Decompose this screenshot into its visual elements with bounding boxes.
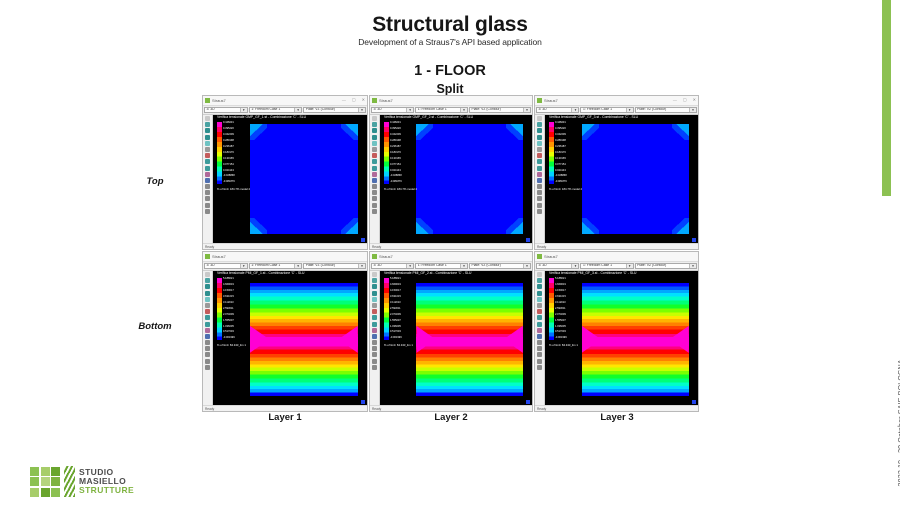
select-tool-icon[interactable] xyxy=(372,272,377,277)
axis-triad-icon xyxy=(526,238,530,242)
chevron-down-icon[interactable]: ▾ xyxy=(460,264,467,268)
legend-footer: % of limit: 84.343_lim 1 xyxy=(384,343,413,347)
status-bar: Ready xyxy=(535,243,698,250)
legend-value: 0.395220 xyxy=(223,128,235,131)
window-title: Straus7 xyxy=(379,98,393,103)
vector-tool-icon[interactable] xyxy=(372,178,377,183)
app-icon xyxy=(205,254,210,259)
rotate-tool-icon[interactable] xyxy=(372,135,377,140)
select-tool-icon[interactable] xyxy=(537,116,542,121)
legend-value: -0.081879 xyxy=(390,181,402,184)
node-tool-icon[interactable] xyxy=(372,147,377,152)
plate-tool-icon[interactable] xyxy=(537,315,542,320)
legend-value: 1.036005 xyxy=(555,326,567,329)
window-titlebar: Straus7 xyxy=(370,252,532,262)
contour-tool-icon[interactable] xyxy=(537,172,542,177)
window-title: Straus7 xyxy=(212,98,226,103)
legend-value: 4.669019 xyxy=(555,284,567,287)
app-window-top-layer3[interactable]: Straus7 — ▢ ✕ 3: 3D ▾ 1: Freedom Case 1 … xyxy=(534,95,699,250)
plate-tool-icon[interactable] xyxy=(205,315,210,320)
window-body: Verifica tensionale PMI_GF_3.st - Combin… xyxy=(535,271,698,405)
vector-tool-icon[interactable] xyxy=(205,178,210,183)
node-tool-icon[interactable] xyxy=(372,303,377,308)
logo-hatch-mark xyxy=(64,466,75,497)
legend-value: 3.112013 xyxy=(223,302,235,305)
corner-gradient xyxy=(506,124,523,141)
studio-masiello-logo: STUDIO MASIELLO STRUTTURE xyxy=(30,466,134,497)
side-toolbar[interactable] xyxy=(203,115,213,243)
contour-plot xyxy=(416,124,522,234)
rotate-tool-icon[interactable] xyxy=(372,291,377,296)
result-select[interactable]: Plate: VZ (Contour) ▾ xyxy=(303,263,366,269)
legend-value: 0.183176 xyxy=(223,152,235,155)
entity-select-value: 3: 3D xyxy=(207,108,215,111)
axis-tool-icon[interactable] xyxy=(372,203,377,208)
screenshot-grid: Straus7 — ▢ ✕ 3: 3D ▾ 1: Freedom Case 1 … xyxy=(202,95,699,412)
result-select-value: Plate: VZ (Contour) xyxy=(471,264,500,267)
minimize-icon[interactable]: — xyxy=(342,98,346,102)
chevron-down-icon[interactable]: ▾ xyxy=(240,264,247,268)
vector-tool-icon[interactable] xyxy=(537,178,542,183)
settings-tool-icon[interactable] xyxy=(372,209,377,214)
legend-value: -0.028868 xyxy=(555,175,567,178)
maximize-icon[interactable]: ▢ xyxy=(352,98,356,102)
measure-tool-icon[interactable] xyxy=(372,297,377,302)
model-canvas[interactable]: Verifica tensionale PMI_GF_2.st - Combin… xyxy=(380,271,532,405)
node-tool-icon[interactable] xyxy=(205,303,210,308)
legend-value: 3.631015 xyxy=(555,296,567,299)
legend-value: 0.183176 xyxy=(555,152,567,155)
legend-value: 0.342209 xyxy=(390,134,402,137)
minimize-icon[interactable]: — xyxy=(673,98,677,102)
selector-strip: 3: 3D ▾ 1: Freedom Case 1 ▾ Plate: VZ (C… xyxy=(370,106,532,115)
print-tool-icon[interactable] xyxy=(372,190,377,195)
legend-value: 1.555007 xyxy=(555,320,567,323)
window-body: Verifica tensionale GMP_GF_3.st - Combin… xyxy=(535,115,698,243)
window-titlebar: Straus7 xyxy=(203,252,367,262)
legend-value: 0.517003 xyxy=(390,331,402,334)
measure-tool-icon[interactable] xyxy=(537,297,542,302)
legend-value: 3.112013 xyxy=(390,302,402,305)
legend-value: 2.593011 xyxy=(390,308,402,311)
pan-tool-icon[interactable] xyxy=(372,122,377,127)
window-titlebar: Straus7 xyxy=(370,96,532,106)
print-tool-icon[interactable] xyxy=(537,190,542,195)
contour-plot xyxy=(416,283,522,396)
status-text: Ready xyxy=(372,246,381,249)
chevron-down-icon[interactable]: ▾ xyxy=(626,108,633,112)
result-select[interactable]: Plate: VZ (Contour) ▾ xyxy=(635,107,697,113)
legend-value: -0.081879 xyxy=(223,181,235,184)
measure-tool-icon[interactable] xyxy=(372,141,377,146)
case-select[interactable]: 1: Freedom Case 1 ▾ xyxy=(580,107,633,113)
node-tool-icon[interactable] xyxy=(537,147,542,152)
brick-tool-icon[interactable] xyxy=(205,166,210,171)
pan-tool-icon[interactable] xyxy=(537,278,542,283)
vector-tool-icon[interactable] xyxy=(205,334,210,339)
corner-gradient xyxy=(582,124,599,141)
legend-value: 5.188021 xyxy=(223,278,235,281)
legend-footer: % of limit: 84.343_lim 1 xyxy=(549,343,578,347)
legend-value: 0.024143 xyxy=(390,170,402,173)
beam-tool-icon[interactable] xyxy=(205,309,210,314)
plate-tool-icon[interactable] xyxy=(537,159,542,164)
legend-colorbar xyxy=(217,122,222,184)
app-window-top-layer1[interactable]: Straus7 — ▢ ✕ 3: 3D ▾ 1: Freedom Case 1 … xyxy=(202,95,368,250)
chevron-down-icon[interactable]: ▾ xyxy=(626,264,633,268)
scale-tool-icon[interactable] xyxy=(372,184,377,189)
contour-plot xyxy=(582,283,689,396)
case-select[interactable]: 1: Freedom Case 1 ▾ xyxy=(415,263,468,269)
chevron-down-icon[interactable]: ▾ xyxy=(294,108,301,112)
window-controls[interactable]: — ▢ ✕ xyxy=(673,98,696,102)
rotate-tool-icon[interactable] xyxy=(205,291,210,296)
page-title: Structural glass xyxy=(0,14,900,36)
side-toolbar[interactable] xyxy=(370,115,380,243)
contour-tool-icon[interactable] xyxy=(205,172,210,177)
logo-tile xyxy=(30,488,39,497)
legend-value: 4.150017 xyxy=(223,290,235,293)
brick-tool-icon[interactable] xyxy=(372,322,377,327)
legend-value: 0.289198 xyxy=(390,140,402,143)
section-title: 1 - FLOOR xyxy=(0,63,900,80)
case-select[interactable]: 1: Freedom Case 1 ▾ xyxy=(580,263,633,269)
brick-tool-icon[interactable] xyxy=(537,322,542,327)
brick-tool-icon[interactable] xyxy=(372,166,377,171)
app-window-top-layer2[interactable]: Straus7 3: 3D ▾ 1: Freedom Case 1 ▾ Plat… xyxy=(369,95,533,250)
scale-tool-icon[interactable] xyxy=(537,184,542,189)
select-tool-icon[interactable] xyxy=(537,272,542,277)
select-tool-icon[interactable] xyxy=(372,116,377,121)
result-select[interactable]: Plate: VZ (Contour) ▾ xyxy=(469,263,531,269)
contour-legend: 5.188021 4.669019 4.150017 3.631015 3.11… xyxy=(549,278,567,340)
legend-value: 0.236187 xyxy=(555,146,567,149)
app-icon xyxy=(372,98,377,103)
legend-value: 1.036005 xyxy=(390,326,402,329)
beam-tool-icon[interactable] xyxy=(205,153,210,158)
rotate-tool-icon[interactable] xyxy=(537,291,542,296)
print-tool-icon[interactable] xyxy=(205,346,210,351)
print-tool-icon[interactable] xyxy=(372,346,377,351)
legend-value: 3.112013 xyxy=(555,302,567,305)
brick-tool-icon[interactable] xyxy=(205,322,210,327)
slide-title-block: Structural glass Development of a Straus… xyxy=(0,14,900,97)
selector-strip: 3: 3D ▾ 1: Freedom Case 1 ▾ Plate: VZ (C… xyxy=(203,262,367,271)
case-select-value: 1: Freedom Case 1 xyxy=(251,264,280,267)
legend-value: 4.150017 xyxy=(555,290,567,293)
app-window-bottom-layer3[interactable]: Straus7 3: 3D ▾ 1: Freedom Case 1 ▾ Plat… xyxy=(534,251,699,412)
status-text: Ready xyxy=(537,246,546,249)
legend-colorbar xyxy=(384,278,389,340)
chevron-down-icon[interactable]: ▾ xyxy=(240,108,247,112)
grid-tool-icon[interactable] xyxy=(372,196,377,201)
window-body: Verifica tensionale GMP_GF_2.st - Combin… xyxy=(370,115,532,243)
logo-tile xyxy=(30,477,39,486)
chevron-down-icon[interactable]: ▾ xyxy=(523,108,530,112)
side-toolbar[interactable] xyxy=(535,271,545,405)
pan-tool-icon[interactable] xyxy=(205,278,210,283)
measure-tool-icon[interactable] xyxy=(205,141,210,146)
app-window-bottom-layer1[interactable]: Straus7 3: 3D ▾ 1: Freedom Case 1 ▾ Plat… xyxy=(202,251,368,412)
legend-value: 0.077154 xyxy=(223,164,235,167)
legend-values: 5.188021 4.669019 4.150017 3.631015 3.11… xyxy=(223,278,235,340)
legend-value: 2.074009 xyxy=(555,314,567,317)
axis-tool-icon[interactable] xyxy=(205,359,210,364)
beam-tool-icon[interactable] xyxy=(537,309,542,314)
legend-values: 0.448231 0.395220 0.342209 0.289198 0.23… xyxy=(223,122,235,184)
legend-value: 1.555007 xyxy=(390,320,402,323)
maximize-icon[interactable]: ▢ xyxy=(683,98,687,102)
chevron-down-icon[interactable]: ▾ xyxy=(689,264,696,268)
entity-select[interactable]: 3: 3D ▾ xyxy=(371,107,414,113)
rotate-tool-icon[interactable] xyxy=(537,135,542,140)
model-canvas[interactable]: Verifica tensionale GMP_GF_2.st - Combin… xyxy=(380,115,532,243)
side-toolbar[interactable] xyxy=(203,271,213,405)
legend-value: 0.289198 xyxy=(555,140,567,143)
grid-tool-icon[interactable] xyxy=(372,352,377,357)
case-select[interactable]: 1: Freedom Case 1 ▾ xyxy=(249,263,302,269)
row-label-bottom: Bottom xyxy=(125,321,185,332)
corner-gradient xyxy=(506,218,523,235)
legend-values: 0.448231 0.395220 0.342209 0.289198 0.23… xyxy=(555,122,567,184)
contour-tool-icon[interactable] xyxy=(372,172,377,177)
legend-value: 5.188021 xyxy=(390,278,402,281)
status-bar: Ready xyxy=(370,243,532,250)
canvas-header-text: Verifica tensionale PMI_GF_3.st - Combin… xyxy=(549,272,636,275)
model-canvas[interactable]: Verifica tensionale GMP_GF_1.st - Combin… xyxy=(213,115,367,243)
model-canvas[interactable]: Verifica tensionale GMP_GF_3.st - Combin… xyxy=(545,115,698,243)
settings-tool-icon[interactable] xyxy=(537,365,542,370)
corner-gradient xyxy=(582,218,599,235)
corner-gradient xyxy=(672,124,689,141)
window-controls[interactable]: — ▢ ✕ xyxy=(342,98,365,102)
legend-value: 0.024143 xyxy=(223,170,235,173)
pan-tool-icon[interactable] xyxy=(537,122,542,127)
node-tool-icon[interactable] xyxy=(537,303,542,308)
entity-select[interactable]: 3: 3D ▾ xyxy=(536,107,579,113)
contour-plot xyxy=(250,283,358,396)
brick-tool-icon[interactable] xyxy=(537,166,542,171)
contour-legend: 0.448231 0.395220 0.342209 0.289198 0.23… xyxy=(384,122,402,184)
legend-value: 2.074009 xyxy=(223,314,235,317)
legend-colorbar xyxy=(549,122,554,184)
legend-value: 0.517003 xyxy=(223,331,235,334)
window-titlebar: Straus7 — ▢ ✕ xyxy=(203,96,367,106)
beam-tool-icon[interactable] xyxy=(537,153,542,158)
chevron-down-icon[interactable]: ▾ xyxy=(358,108,365,112)
logo-tile xyxy=(30,467,39,476)
entity-select[interactable]: 3: 3D ▾ xyxy=(204,263,248,269)
vector-tool-icon[interactable] xyxy=(372,334,377,339)
status-text: Ready xyxy=(372,408,381,411)
logo-tile xyxy=(41,477,50,486)
side-toolbar[interactable] xyxy=(535,115,545,243)
result-select[interactable]: Plate: VZ (Contour) ▾ xyxy=(303,107,366,113)
contour-tool-icon[interactable] xyxy=(537,328,542,333)
grid-tool-icon[interactable] xyxy=(537,196,542,201)
rotate-tool-icon[interactable] xyxy=(205,135,210,140)
legend-value: 1.036005 xyxy=(223,326,235,329)
zoom-tool-icon[interactable] xyxy=(372,128,377,133)
canvas-header-text: Verifica tensionale GMP_GF_2.st - Combin… xyxy=(384,116,473,119)
model-canvas[interactable]: Verifica tensionale PMI_GF_1.st - Combin… xyxy=(213,271,367,405)
legend-value: 0.448231 xyxy=(223,122,235,125)
measure-tool-icon[interactable] xyxy=(537,141,542,146)
entity-select-value: 3: 3D xyxy=(539,264,547,267)
grid-tool-icon[interactable] xyxy=(205,196,210,201)
legend-value: 0.024143 xyxy=(555,170,567,173)
grid-tool-icon[interactable] xyxy=(205,352,210,357)
selector-strip: 3: 3D ▾ 1: Freedom Case 1 ▾ Plate: VZ (C… xyxy=(535,106,698,115)
legend-value: 2.074009 xyxy=(390,314,402,317)
selector-strip: 3: 3D ▾ 1: Freedom Case 1 ▾ Plate: VZ (C… xyxy=(535,262,698,271)
axis-triad-icon xyxy=(526,400,530,404)
chevron-down-icon[interactable]: ▾ xyxy=(523,264,530,268)
node-tool-icon[interactable] xyxy=(205,147,210,152)
logo-tile xyxy=(51,477,60,486)
legend-value: 1.555007 xyxy=(223,320,235,323)
canvas-header-text: Verifica tensionale GMP_GF_3.st - Combin… xyxy=(549,116,638,119)
legend-values: 5.188021 4.669019 4.150017 3.631015 3.11… xyxy=(390,278,402,340)
settings-tool-icon[interactable] xyxy=(205,365,210,370)
chevron-down-icon[interactable]: ▾ xyxy=(571,108,578,112)
contour-legend: 5.188021 4.669019 4.150017 3.631015 3.11… xyxy=(384,278,402,340)
scale-tool-icon[interactable] xyxy=(372,340,377,345)
beam-tool-icon[interactable] xyxy=(372,309,377,314)
vector-tool-icon[interactable] xyxy=(537,334,542,339)
settings-tool-icon[interactable] xyxy=(372,365,377,370)
legend-footer: % of limit: 184.7% model 2 xyxy=(384,187,417,191)
print-tool-icon[interactable] xyxy=(205,190,210,195)
result-select[interactable]: Plate: VZ (Contour) ▾ xyxy=(469,107,531,113)
entity-select[interactable]: 3: 3D ▾ xyxy=(371,263,414,269)
status-text: Ready xyxy=(205,246,214,249)
logo-tile xyxy=(41,467,50,476)
status-bar: Ready xyxy=(203,243,367,250)
entity-select[interactable]: 3: 3D ▾ xyxy=(536,263,579,269)
canvas-header-text: Verifica tensionale PMI_GF_1.st - Combin… xyxy=(217,272,304,275)
result-select-value: Plate: VZ (Contour) xyxy=(306,264,335,267)
grid-tool-icon[interactable] xyxy=(537,352,542,357)
zoom-tool-icon[interactable] xyxy=(205,128,210,133)
scale-tool-icon[interactable] xyxy=(205,184,210,189)
column-label-layer-3: Layer 3 xyxy=(572,412,662,423)
axis-tool-icon[interactable] xyxy=(537,359,542,364)
window-title: Straus7 xyxy=(212,254,226,259)
logo-tile xyxy=(51,467,60,476)
beam-tool-icon[interactable] xyxy=(372,153,377,158)
measure-tool-icon[interactable] xyxy=(205,297,210,302)
chevron-down-icon[interactable]: ▾ xyxy=(689,108,696,112)
legend-value: 4.669019 xyxy=(223,284,235,287)
chevron-down-icon[interactable]: ▾ xyxy=(358,264,365,268)
chevron-down-icon[interactable]: ▾ xyxy=(294,264,301,268)
entity-select-value: 3: 3D xyxy=(207,264,215,267)
settings-tool-icon[interactable] xyxy=(537,209,542,214)
case-select-value: 1: Freedom Case 1 xyxy=(418,264,447,267)
result-select-value: Plate: VZ (Contour) xyxy=(637,264,666,267)
axis-tool-icon[interactable] xyxy=(537,203,542,208)
entity-select-value: 3: 3D xyxy=(539,108,547,111)
case-select-value: 1: Freedom Case 1 xyxy=(418,108,447,111)
case-select[interactable]: 1: Freedom Case 1 ▾ xyxy=(249,107,302,113)
scale-tool-icon[interactable] xyxy=(205,340,210,345)
legend-value: 0.077154 xyxy=(390,164,402,167)
scale-tool-icon[interactable] xyxy=(537,340,542,345)
print-tool-icon[interactable] xyxy=(537,346,542,351)
entity-select[interactable]: 3: 3D ▾ xyxy=(204,107,248,113)
pan-tool-icon[interactable] xyxy=(205,122,210,127)
zoom-tool-icon[interactable] xyxy=(205,284,210,289)
contour-tool-icon[interactable] xyxy=(205,328,210,333)
zoom-tool-icon[interactable] xyxy=(537,128,542,133)
plate-tool-icon[interactable] xyxy=(372,159,377,164)
select-tool-icon[interactable] xyxy=(205,272,210,277)
window-title: Straus7 xyxy=(379,254,393,259)
result-select-value: Plate: VZ (Contour) xyxy=(306,108,335,111)
legend-value: -0.001999 xyxy=(555,337,567,340)
legend-value: 3.631015 xyxy=(390,296,402,299)
corner-gradient xyxy=(416,124,433,141)
contour-tool-icon[interactable] xyxy=(372,328,377,333)
close-icon[interactable]: ✕ xyxy=(693,98,696,102)
legend-footer: % of limit: 84.343_lim 1 xyxy=(217,343,246,347)
result-select[interactable]: Plate: VZ (Contour) ▾ xyxy=(635,263,697,269)
zoom-tool-icon[interactable] xyxy=(372,284,377,289)
case-select-value: 1: Freedom Case 1 xyxy=(251,108,280,111)
corner-gradient xyxy=(341,124,358,141)
legend-value: 0.077154 xyxy=(555,164,567,167)
app-window-bottom-layer2[interactable]: Straus7 3: 3D ▾ 1: Freedom Case 1 ▾ Plat… xyxy=(369,251,533,412)
select-tool-icon[interactable] xyxy=(205,116,210,121)
logo-wordmark: STUDIO MASIELLO STRUTTURE xyxy=(79,468,134,495)
pan-tool-icon[interactable] xyxy=(372,278,377,283)
legend-value: 0.448231 xyxy=(390,122,402,125)
legend-value: -0.001999 xyxy=(390,337,402,340)
axis-tool-icon[interactable] xyxy=(205,203,210,208)
canvas-header-text: Verifica tensionale GMP_GF_1.st - Combin… xyxy=(217,116,306,119)
selector-strip: 3: 3D ▾ 1: Freedom Case 1 ▾ Plate: VZ (C… xyxy=(203,106,367,115)
legend-value: 0.183176 xyxy=(390,152,402,155)
logo-tile xyxy=(51,488,60,497)
chevron-down-icon[interactable]: ▾ xyxy=(406,108,413,112)
close-icon[interactable]: ✕ xyxy=(362,98,365,102)
page-subtitle: Development of a Straus7's API based app… xyxy=(0,37,900,47)
side-toolbar[interactable] xyxy=(370,271,380,405)
legend-footer: % of limit: 184.7% model 2 xyxy=(549,187,582,191)
model-canvas[interactable]: Verifica tensionale PMI_GF_3.st - Combin… xyxy=(545,271,698,405)
entity-select-value: 3: 3D xyxy=(374,264,382,267)
case-select[interactable]: 1: Freedom Case 1 ▾ xyxy=(415,107,468,113)
legend-colorbar xyxy=(217,278,222,340)
plate-tool-icon[interactable] xyxy=(205,159,210,164)
legend-value: 4.669019 xyxy=(390,284,402,287)
column-label-layer-1: Layer 1 xyxy=(240,412,330,423)
contour-legend: 0.448231 0.395220 0.342209 0.289198 0.23… xyxy=(217,122,235,184)
chevron-down-icon[interactable]: ▾ xyxy=(571,264,578,268)
corner-gradient xyxy=(416,218,433,235)
zoom-tool-icon[interactable] xyxy=(537,284,542,289)
chevron-down-icon[interactable]: ▾ xyxy=(460,108,467,112)
settings-tool-icon[interactable] xyxy=(205,209,210,214)
contour-plot xyxy=(250,124,358,234)
chevron-down-icon[interactable]: ▾ xyxy=(406,264,413,268)
plate-tool-icon[interactable] xyxy=(372,315,377,320)
corner-gradient xyxy=(250,218,267,235)
axis-tool-icon[interactable] xyxy=(372,359,377,364)
legend-value: -0.028868 xyxy=(390,175,402,178)
case-select-value: 1: Freedom Case 1 xyxy=(583,108,612,111)
